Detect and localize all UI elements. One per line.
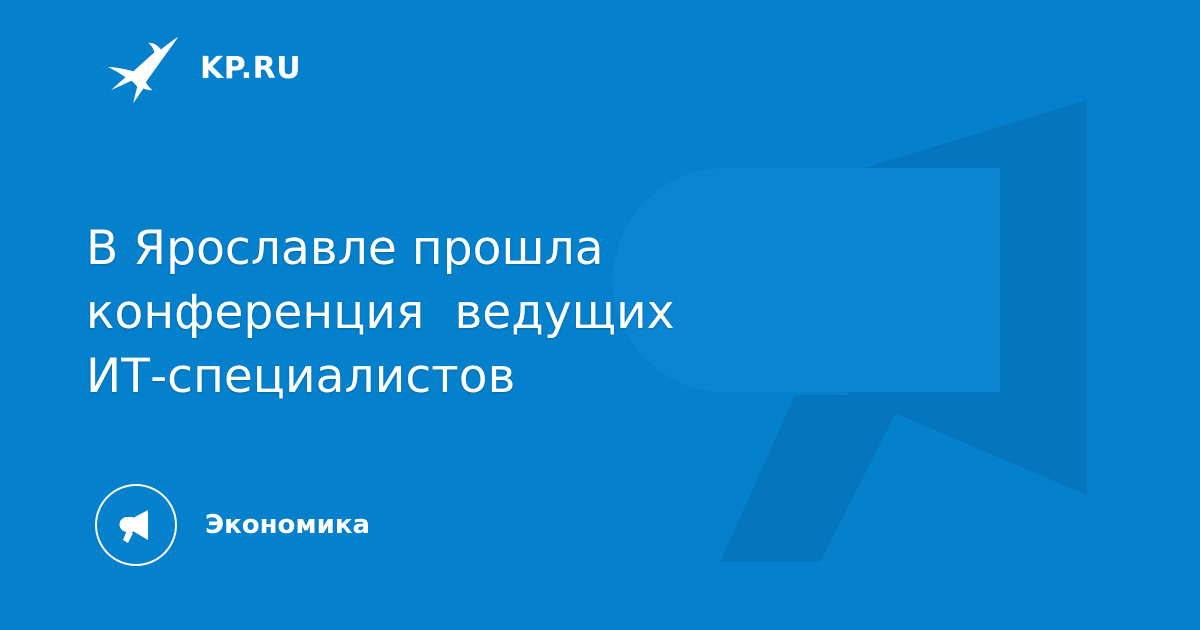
social-share-card: KP.RU В Ярославле прошла конференция вед… [0,0,1200,630]
swallow-bird-icon [104,32,182,106]
category-label-text: Экономика [205,512,370,538]
megaphone-icon [114,503,158,547]
megaphone-handle-shape [720,395,905,562]
brand-logo[interactable]: KP.RU [104,32,301,106]
headline-text: В Ярославле прошла конференция ведущих И… [86,217,826,409]
category-badge[interactable]: Экономика [95,484,370,566]
category-icon-circle [95,484,177,566]
brand-name-text: KP.RU [200,54,301,84]
